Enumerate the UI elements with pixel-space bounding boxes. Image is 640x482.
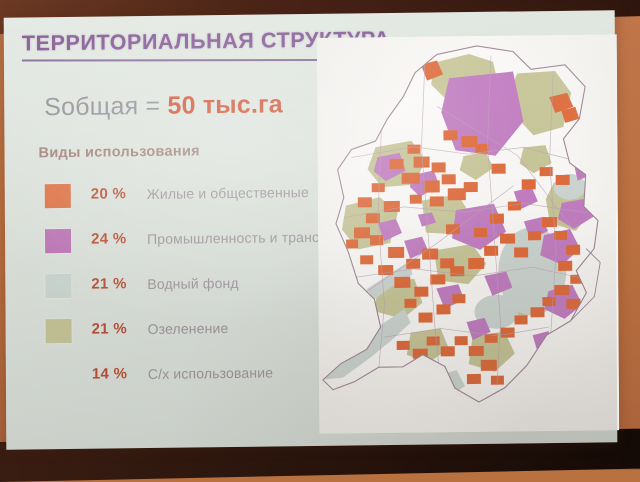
total-area-value: 50 тыс.га [167, 90, 282, 119]
legend-heading: Виды использования [38, 143, 199, 161]
projection-screen: ТЕРРИТОРИАЛЬНАЯ СТРУКТУРА Sобщая = 50 ты… [4, 10, 618, 449]
city-land-use-map [317, 34, 619, 434]
legend-list: 20 % Жилые и общественные 24 % Промышлен… [39, 177, 350, 406]
legend-swatch-industrial [45, 229, 71, 253]
legend-percent: 21 % [92, 320, 144, 338]
total-area-label: Sобщая = [44, 92, 167, 122]
legend-label: Водный фонд [147, 275, 238, 292]
list-item: 21 % Озеленение [40, 312, 350, 361]
list-item: 14 % С/х использование [40, 357, 350, 406]
legend-percent: 21 % [91, 275, 143, 293]
legend-label: Озеленение [148, 320, 229, 337]
legend-percent: 14 % [92, 365, 144, 383]
total-area-line: Sобщая = 50 тыс.га [44, 90, 283, 122]
legend-swatch-water [45, 274, 71, 298]
legend-label: Жилые и общественные [147, 184, 309, 202]
list-item: 24 % Промышленность и транспорт [39, 222, 349, 271]
map-svg [317, 34, 619, 434]
legend-swatch-green [46, 319, 72, 343]
slide-content: ТЕРРИТОРИАЛЬНАЯ СТРУКТУРА Sобщая = 50 ты… [4, 10, 618, 449]
legend-percent: 24 % [91, 230, 143, 248]
list-item: 21 % Водный фонд [39, 267, 349, 316]
list-item: 20 % Жилые и общественные [39, 177, 349, 226]
legend-percent: 20 % [91, 185, 143, 203]
legend-label: С/х использование [148, 364, 273, 382]
legend-swatch-residential [45, 184, 71, 208]
